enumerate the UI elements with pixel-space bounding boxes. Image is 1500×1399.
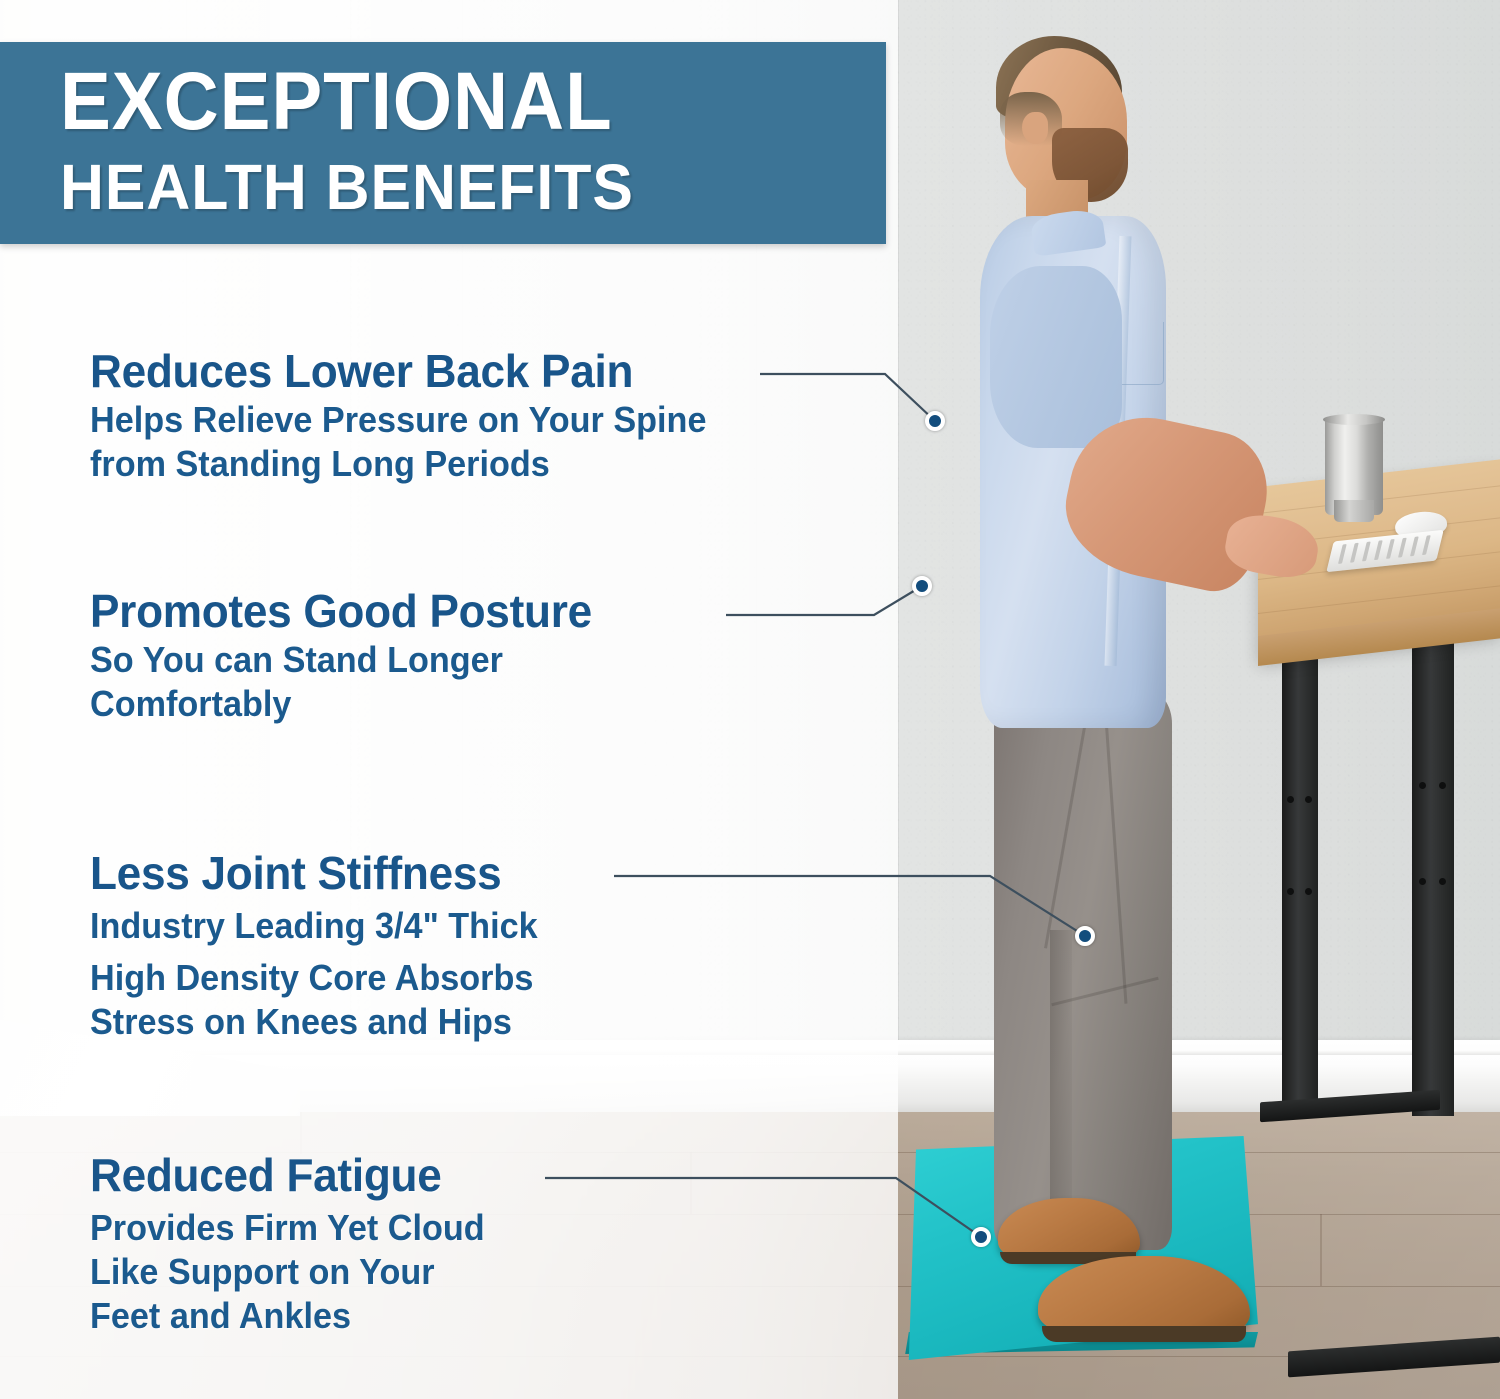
header-banner: EXCEPTIONAL HEALTH BENEFITS — [0, 42, 886, 244]
benefit-subline-3-3: Stress on Knees and Hips — [90, 1000, 538, 1044]
benefit-title-1: Reduces Lower Back Pain — [90, 344, 713, 398]
banner-title-line1: EXCEPTIONAL — [60, 56, 613, 148]
benefit-block-4: Reduced Fatigue Provides Firm Yet Cloud … — [90, 1148, 505, 1338]
callout-line-2 — [726, 586, 922, 615]
callout-line-3 — [614, 876, 1085, 936]
benefit-subline-1-1: Helps Relieve Pressure on Your Spine — [90, 398, 706, 442]
benefit-block-2: Promotes Good Posture So You can Stand L… — [90, 584, 613, 726]
benefit-subline-4-3: Feet and Ankles — [90, 1294, 485, 1338]
callout-dot-posture — [912, 576, 932, 596]
benefit-block-1: Reduces Lower Back Pain Helps Relieve Pr… — [90, 344, 739, 486]
benefit-subline-3-2: High Density Core Absorbs — [90, 956, 538, 1000]
callout-line-4 — [545, 1178, 981, 1237]
benefit-subline-2-2: Comfortably — [90, 682, 587, 726]
benefit-subline-3-1: Industry Leading 3/4" Thick — [90, 904, 538, 948]
benefit-title-2: Promotes Good Posture — [90, 584, 592, 638]
benefit-subline-2-1: So You can Stand Longer — [90, 638, 587, 682]
benefit-title-3: Less Joint Stiffness — [90, 846, 542, 900]
callout-dot-knee — [1075, 926, 1095, 946]
infographic-canvas: EXCEPTIONAL HEALTH BENEFITS Reduces Lowe… — [0, 0, 1500, 1399]
callout-line-1 — [760, 374, 935, 421]
banner-title-line2: HEALTH BENEFITS — [60, 150, 634, 224]
benefit-subline-1-2: from Standing Long Periods — [90, 442, 706, 486]
benefit-subline-4-1: Provides Firm Yet Cloud — [90, 1206, 485, 1250]
benefit-title-4: Reduced Fatigue — [90, 1148, 489, 1202]
benefit-block-3: Less Joint Stiffness Industry Leading 3/… — [90, 846, 561, 1044]
callout-dot-back — [925, 411, 945, 431]
callout-dot-mat — [971, 1227, 991, 1247]
benefit-subline-4-2: Like Support on Your — [90, 1250, 485, 1294]
